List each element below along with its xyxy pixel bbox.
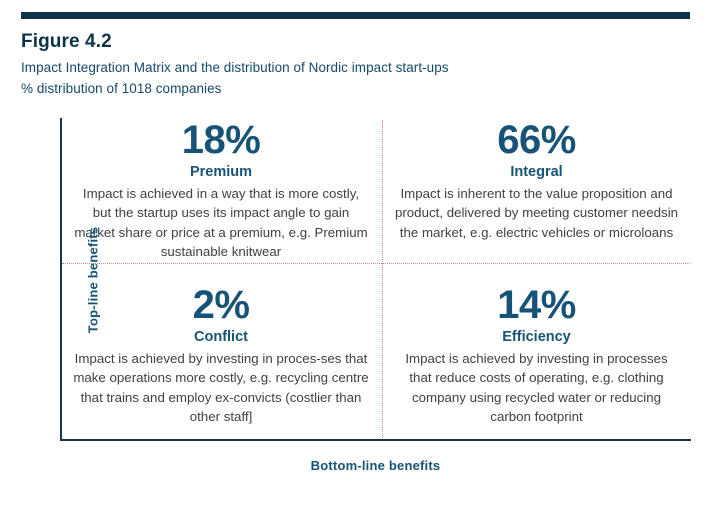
- figure-container: Figure 4.2 Impact Integration Matrix and…: [0, 0, 716, 514]
- quadrant-name: Efficiency: [502, 328, 571, 347]
- quadrant-percent: 14%: [497, 283, 576, 327]
- quadrant-grid: 18% Premium Impact is achieved in a way …: [60, 118, 691, 441]
- figure-heading: Figure 4.2 Impact Integration Matrix and…: [21, 30, 691, 99]
- quadrant-integral: 66% Integral Impact is inherent to the v…: [382, 118, 691, 263]
- quadrant-premium: 18% Premium Impact is achieved in a way …: [60, 118, 382, 263]
- x-axis-title: Bottom-line benefits: [60, 458, 691, 473]
- quadrant-name: Integral: [510, 163, 562, 182]
- quadrant-description: Impact is achieved by investing in proce…: [72, 349, 370, 426]
- quadrant-percent: 66%: [497, 118, 576, 162]
- quadrant-percent: 18%: [182, 118, 261, 162]
- top-accent-rule: [21, 12, 690, 19]
- quadrant-description: Impact is inherent to the value proposit…: [394, 184, 679, 242]
- quadrant-description: Impact is achieved in a way that is more…: [72, 184, 370, 261]
- figure-subtitle-secondary: % distribution of 1018 companies: [21, 79, 691, 99]
- quadrant-name: Premium: [190, 163, 252, 182]
- quadrant-description: Impact is achieved by investing in proce…: [394, 349, 679, 426]
- figure-subtitle: Impact Integration Matrix and the distri…: [21, 58, 691, 78]
- quadrant-efficiency: 14% Efficiency Impact is achieved by inv…: [382, 263, 691, 441]
- quadrant-name: Conflict: [194, 328, 248, 347]
- quadrant-percent: 2%: [193, 283, 250, 327]
- y-axis-title: Top-line benefits: [86, 226, 101, 332]
- impact-integration-matrix: 18% Premium Impact is achieved in a way …: [60, 118, 691, 441]
- quadrant-conflict: 2% Conflict Impact is achieved by invest…: [60, 263, 382, 441]
- figure-label: Figure 4.2: [21, 30, 691, 54]
